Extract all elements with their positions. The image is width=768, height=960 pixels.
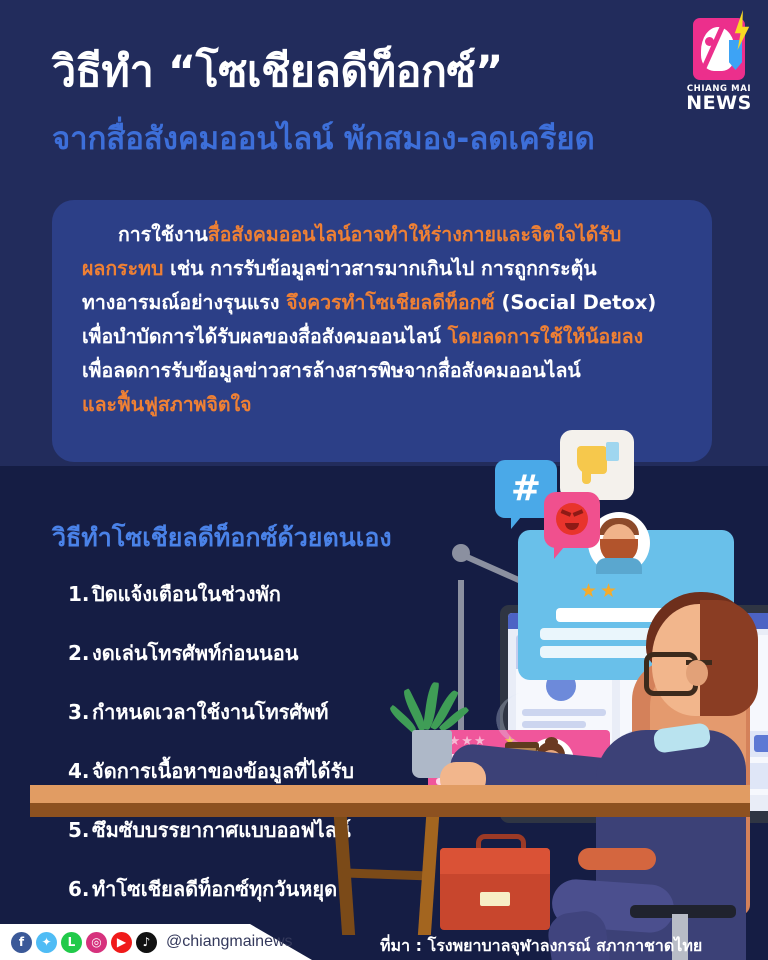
list-item-label: ซึมซับบรรยากาศแบบออฟไลน์: [92, 818, 351, 842]
chair-armrest: [578, 848, 656, 870]
instagram-icon[interactable]: ◎: [86, 932, 107, 953]
facebook-icon[interactable]: f: [11, 932, 32, 953]
list-item-label: งดเล่นโทรศัพท์ก่อนนอน: [92, 641, 298, 665]
screen-post-thumb: [754, 735, 768, 752]
logo-mark-icon: [693, 18, 745, 80]
line-icon[interactable]: L: [61, 932, 82, 953]
social-handle: @chiangmainews: [166, 933, 293, 951]
intro-card-line: เพื่อบำบัดการได้รับผลของสื่อสังคมออนไลน์…: [82, 320, 690, 354]
intro-card: การใช้งานสื่อสังคมออนไลน์อาจทำให้ร่างกาย…: [52, 200, 712, 462]
avatar-shirt: [596, 558, 642, 574]
youtube-icon[interactable]: ▶: [111, 932, 132, 953]
desk-leg: [418, 817, 439, 935]
list-item-number: 1.: [68, 582, 92, 606]
briefcase-lock: [480, 892, 510, 906]
intro-text-segment: เพื่อลดการรับข้อมูลข่าวสารล้างสารพิษจากส…: [82, 359, 581, 382]
intro-text-segment: (Social Detox): [495, 291, 657, 314]
thumbs-down-bubble: [560, 430, 634, 500]
person-ear: [686, 660, 708, 686]
page-title: วิธีทำ “โซเชียลดีท็อกซ์”: [52, 48, 672, 96]
source-credit: ที่มา : โรงพยาบาลจุฬาลงกรณ์ สภากาชาดไทย: [380, 934, 702, 959]
intro-text-segment: และฟื้นฟูสภาพจิตใจ: [82, 393, 252, 416]
intro-text-segment: เพื่อบำบัดการได้รับผลของสื่อสังคมออนไลน์: [82, 325, 448, 348]
list-item-number: 6.: [68, 877, 92, 901]
list-item-number: 4.: [68, 759, 92, 783]
page-subtitle: จากสื่อสังคมออนไลน์ พักสมอง-ลดเครียด: [52, 122, 692, 158]
intro-card-line: การใช้งานสื่อสังคมออนไลน์อาจทำให้ร่างกาย…: [82, 218, 690, 252]
lamp-joint-shape: [452, 544, 470, 562]
intro-text-segment: จึงควรทำโซเชียลดีท็อกซ์: [286, 291, 494, 314]
intro-text-segment: เช่น การรับข้อมูลข่าวสารมากเกินไป การถูก…: [163, 257, 596, 280]
desk-scene-illustration: ★★ ★★★★ ★ #: [400, 430, 768, 930]
list-item-label: กำหนดเวลาใช้งานโทรศัพท์: [92, 700, 328, 724]
intro-card-text: การใช้งานสื่อสังคมออนไลน์อาจทำให้ร่างกาย…: [82, 218, 690, 422]
chiang-mai-news-logo: CHIANG MAI NEWS: [683, 18, 755, 118]
infographic-canvas: วิธีทำ “โซเชียลดีท็อกซ์” จากสื่อสังคมออน…: [0, 0, 768, 960]
logo-line2: NEWS: [683, 94, 755, 114]
angry-reaction-bubble: [544, 492, 600, 548]
list-item-label: จัดการเนื้อหาของข้อมูลที่ได้รับ: [92, 759, 354, 783]
person-hair-side: [700, 600, 758, 716]
intro-card-line: และฟื้นฟูสภาพจิตใจ: [82, 388, 690, 422]
intro-text-segment: สื่อสังคมออนไลน์อาจทำให้ร่างกายและจิตใจไ…: [208, 223, 622, 246]
angry-mouth-shape: [565, 523, 579, 530]
angry-face-icon: [556, 503, 588, 535]
intro-text-segment: ทางอารมณ์อย่างรุนแรง: [82, 291, 286, 314]
tiktok-icon[interactable]: ♪: [136, 932, 157, 953]
intro-card-line: ทางอารมณ์อย่างรุนแรง จึงควรทำโซเชียลดีท็…: [82, 286, 690, 320]
briefcase-flap: [440, 848, 550, 874]
intro-text-segment: การใช้งาน: [118, 223, 208, 246]
twitter-icon[interactable]: ✦: [36, 932, 57, 953]
desk-edge: [30, 803, 750, 817]
intro-card-line: ผลกระทบ เช่น การรับข้อมูลข่าวสารมากเกินไ…: [82, 252, 690, 286]
rating-stars: ★★: [580, 580, 620, 602]
intro-card-line: เพื่อลดการรับข้อมูลข่าวสารล้างสารพิษจากส…: [82, 354, 690, 388]
list-item-label: ปิดแจ้งเตือนในช่วงพัก: [92, 582, 281, 606]
thumbs-down-icon: [577, 446, 607, 474]
section-heading: วิธีทำโซเชียลดีท็อกซ์ด้วยตนเอง: [52, 518, 392, 558]
list-item-number: 3.: [68, 700, 92, 724]
intro-text-segment: โดยลดการใช้ให้น้อยลง: [448, 325, 643, 348]
intro-text-segment: ผลกระทบ: [82, 257, 163, 280]
list-item-label: ทำโซเชียลดีท็อกซ์ทุกวันหยุด: [92, 877, 337, 901]
desk-top: [30, 785, 750, 803]
list-item-number: 2.: [68, 641, 92, 665]
list-item-number: 5.: [68, 818, 92, 842]
